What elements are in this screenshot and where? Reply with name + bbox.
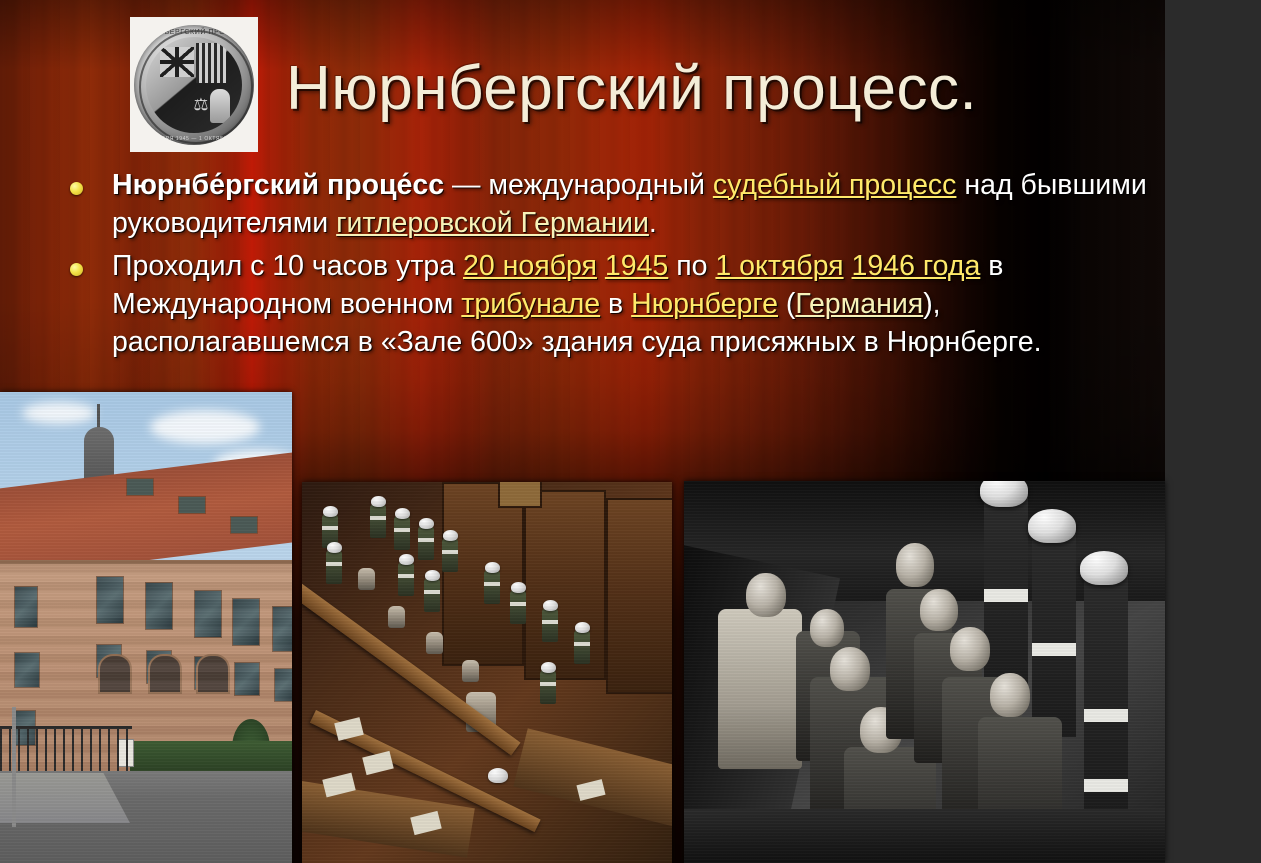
window [14,652,40,688]
white-helmet [511,582,526,593]
window [194,656,220,690]
commemorative-coin-image: ⚖ НЮРНБЕРГСКИЙ ПРОЦЕСС 20 НОЯБРЯ 1945 — … [130,17,258,152]
military-police-guard [510,590,526,624]
white-helmet [323,506,338,517]
entrance-arch [98,654,132,694]
union-jack-icon [160,47,194,77]
window [14,586,38,628]
defendant-goering-body [718,609,802,769]
nuremberg-palace-of-justice-photo [0,392,292,863]
defendant [388,606,405,628]
defendant [462,660,479,682]
defendant-head [830,647,870,691]
bullet-dates-place-text: Проходил с 10 часов утра 20 ноября 1945 … [112,250,1042,358]
defendant-head [810,609,844,647]
entrance-arch [148,654,182,694]
page-title: Нюрнбергский процесс. [286,53,1086,125]
military-police-guard [418,526,434,560]
bullet-list: Нюрнбе́ргский проце́сс — международный с… [62,166,1152,366]
street-pole [12,707,16,827]
white-helmet [1080,551,1128,585]
entrance-arch [196,654,230,694]
list-item: Нюрнбе́ргский проце́сс — международный с… [62,166,1152,242]
defendants-dock-photo [684,481,1165,863]
list-item: Проходил с 10 часов утра 20 ноября 1945 … [62,247,1152,361]
military-police-guard [442,538,458,572]
window [232,598,260,646]
bullet-dot-icon [70,182,83,195]
white-helmet [443,530,458,541]
white-helmet [395,508,410,519]
military-police-guard [326,550,342,584]
military-police-guard [484,570,500,604]
white-helmet [1028,509,1076,543]
coin-disc: ⚖ НЮРНБЕРГСКИЙ ПРОЦЕСС 20 НОЯБРЯ 1945 — … [134,25,254,145]
white-helmet [425,570,440,581]
window [194,590,222,638]
cloud [150,410,260,444]
white-helmet [371,496,386,507]
defendant-head [896,543,934,587]
roof-dormer [178,496,206,514]
window [145,582,173,630]
coin-relief-field: ⚖ [146,37,242,133]
military-police-guard [984,495,1028,701]
defendant-goering-head [746,573,786,617]
white-helmet [419,518,434,529]
white-helmet [327,542,342,553]
window [96,644,122,678]
military-police-guard [540,670,556,704]
defendant [426,632,443,654]
prison-bars-icon [196,43,226,83]
courtroom-colour-photo [302,482,672,863]
white-helmet [980,481,1028,507]
defendant-head [950,627,990,671]
wall-emblem [498,482,542,508]
wood-wall-panel [524,490,606,680]
military-police-guard [1032,525,1076,737]
window [96,576,124,624]
wood-wall-panel [606,498,672,694]
white-helmet [488,768,508,783]
wood-wall-panel [442,482,524,666]
military-police-guard [370,504,386,538]
window [146,650,172,684]
coin-legend-top: НЮРНБЕРГСКИЙ ПРОЦЕСС [134,29,254,36]
white-helmet [543,600,558,611]
military-police-guard [424,578,440,612]
bullet-definition-text: Нюрнбе́ргский проце́сс — международный с… [112,169,1147,239]
coin-legend-bottom: 20 НОЯБРЯ 1945 — 1 ОКТЯБРЯ 1946 [134,136,254,142]
armband [1084,709,1128,722]
window [234,662,260,696]
military-police-guard [542,608,558,642]
roof-dormer [126,478,154,496]
hedge [130,741,292,775]
scales-of-justice-icon: ⚖ [190,95,212,115]
window [272,606,292,652]
roof-dormer [230,516,258,534]
slide: ⚖ НЮРНБЕРГСКИЙ ПРОЦЕСС 20 НОЯБРЯ 1945 — … [0,0,1261,863]
armband [1084,779,1128,792]
defendant-head [990,673,1030,717]
military-police-guard [398,562,414,596]
armband [1032,643,1076,656]
right-margin-panel [1165,0,1261,863]
dock-bench [684,809,1165,863]
white-helmet [541,662,556,673]
military-police-guard [394,516,410,550]
military-police-guard [1084,567,1128,811]
iron-fence [0,726,132,775]
white-helmet [399,554,414,565]
white-helmet [485,562,500,573]
defendant [358,568,375,590]
justice-figure-icon [210,89,230,123]
defendant-head [920,589,958,631]
white-helmet [575,622,590,633]
window [274,668,292,702]
military-police-guard [574,630,590,664]
bullet-dot-icon [70,263,83,276]
armband [984,589,1028,602]
cloud [22,402,96,424]
